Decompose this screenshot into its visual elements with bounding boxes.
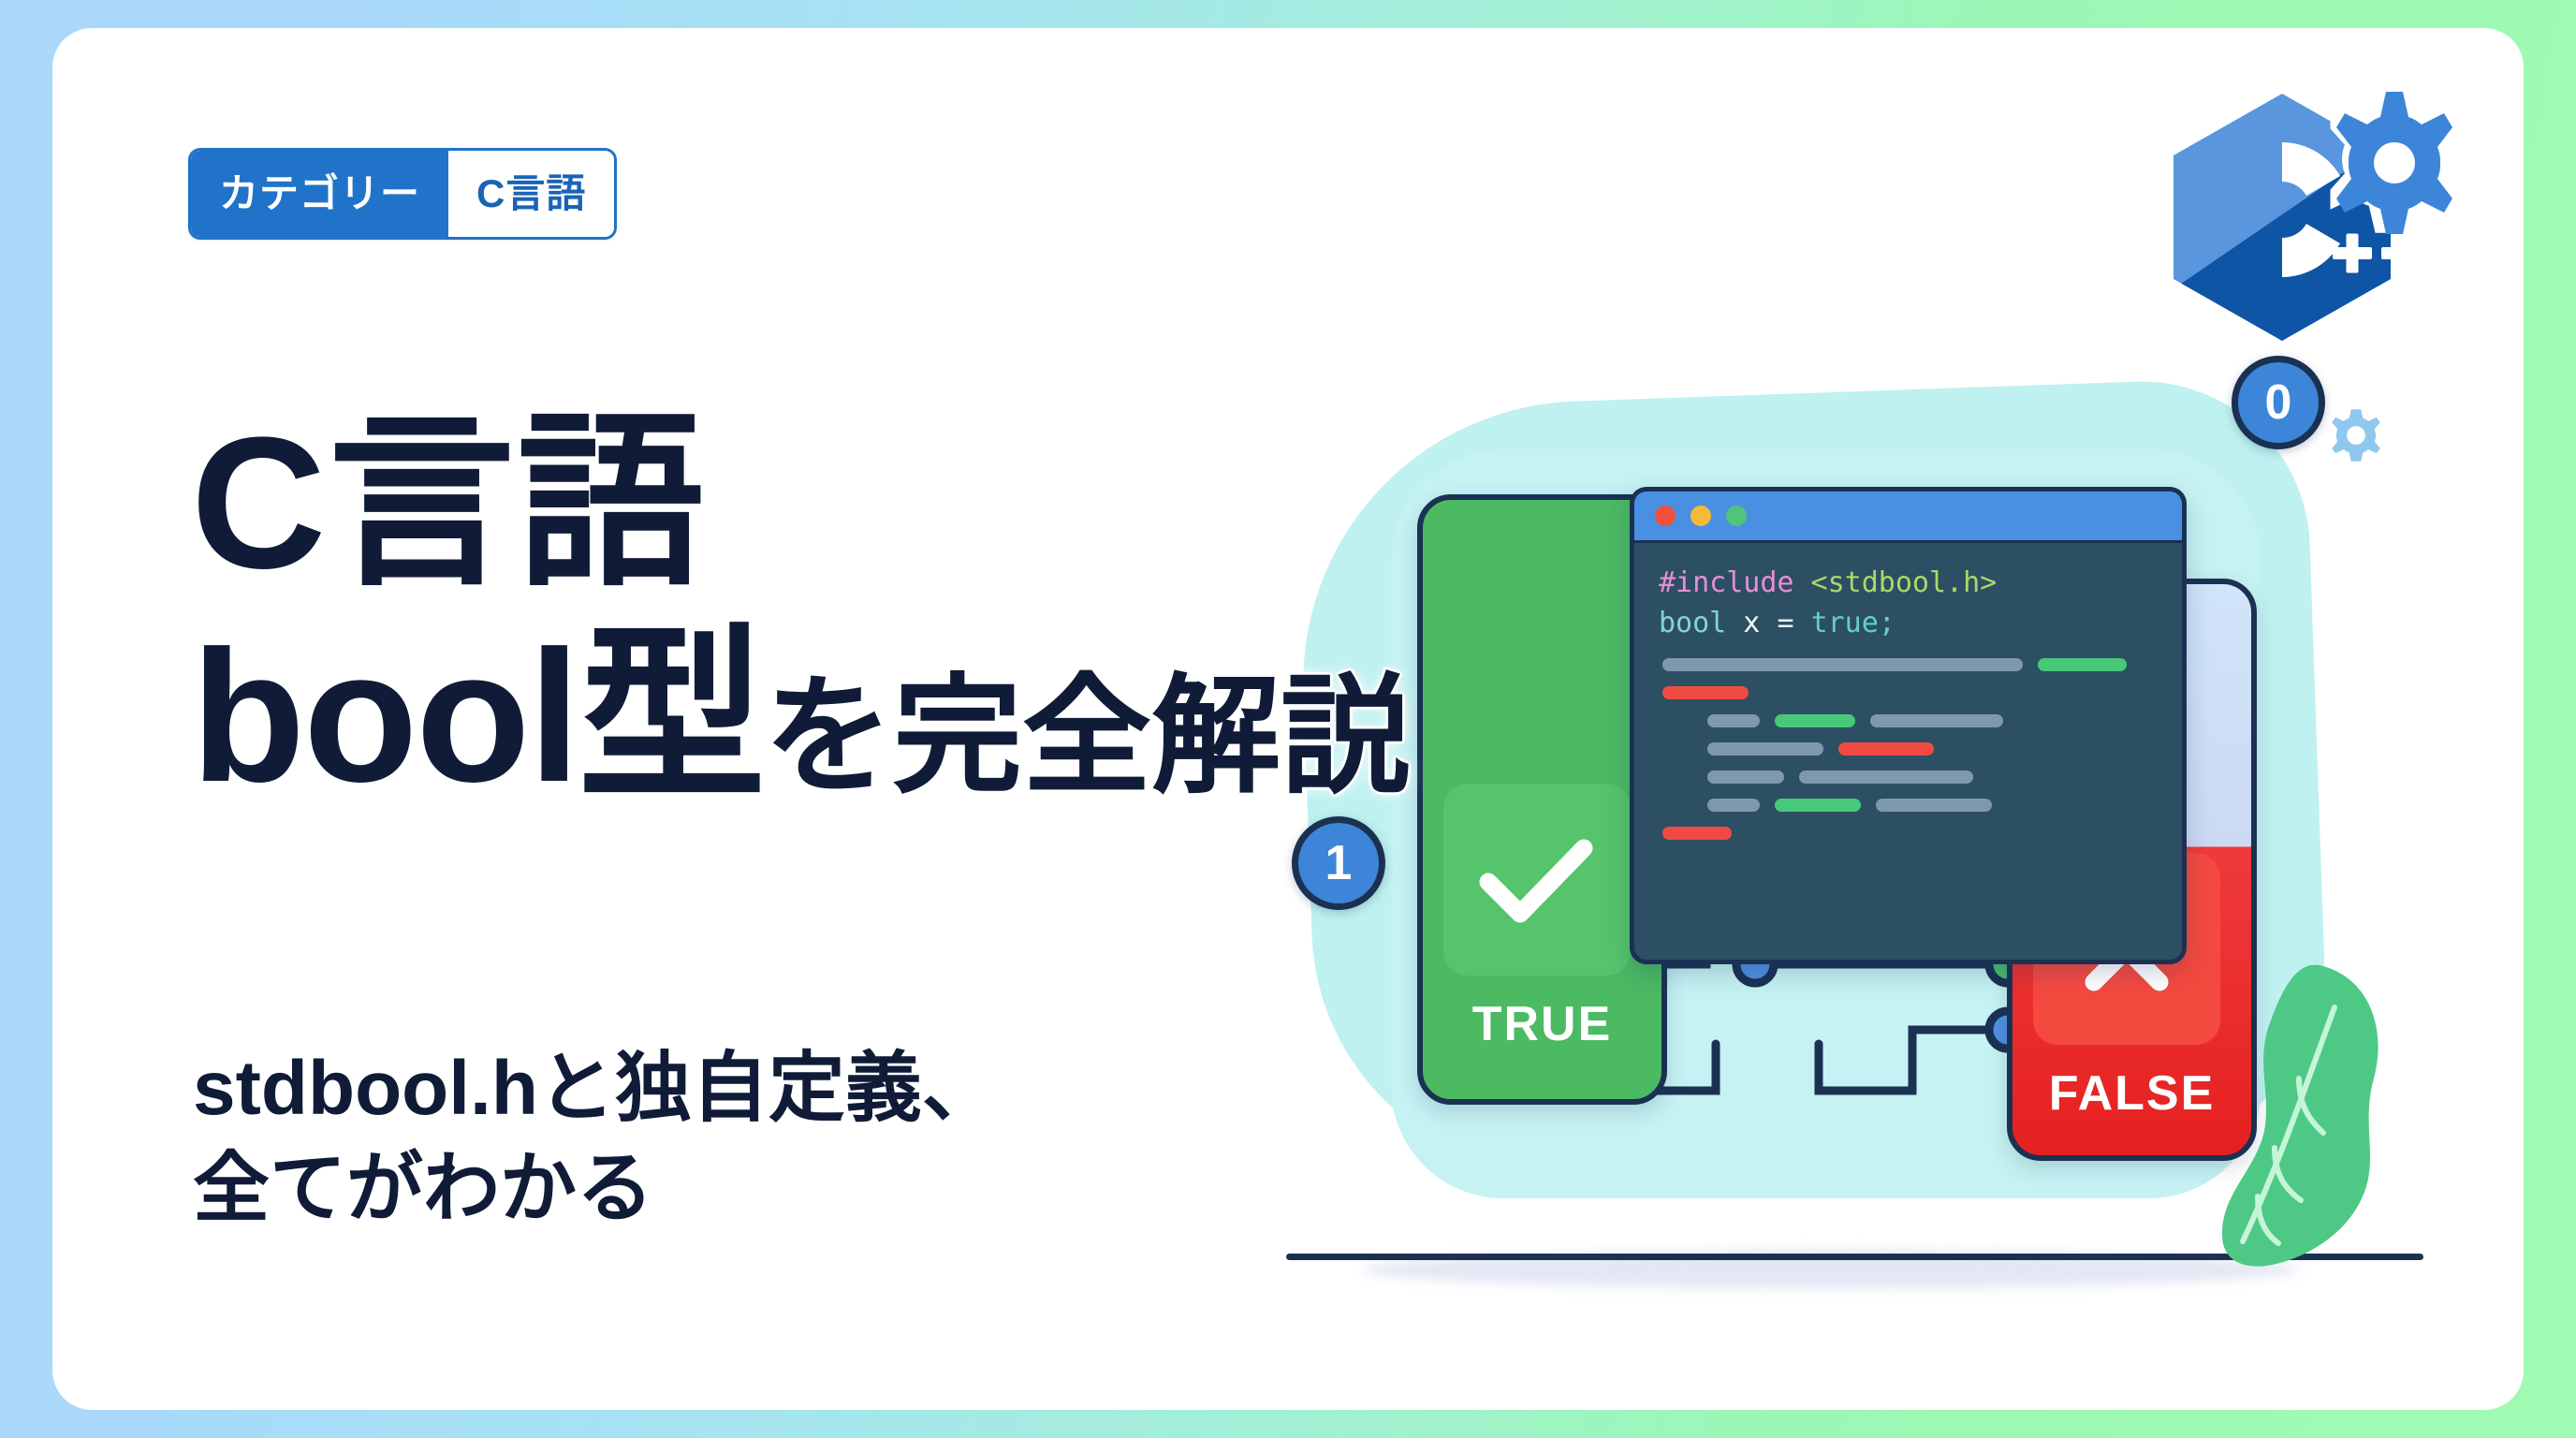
category-badge-label: カテゴリー (191, 151, 448, 237)
leaf-decoration-icon (2213, 959, 2409, 1268)
headline-line-1: C言語 (191, 410, 1838, 597)
headline-suffix: を完全解説 (764, 665, 1410, 809)
thumbnail-canvas: カテゴリー C言語 (0, 0, 2576, 1438)
gear-icon (2325, 404, 2387, 466)
placeholder-bar (1876, 799, 1992, 812)
page-subtitle: stdbool.hと独自定義、 全てがわかる (193, 1039, 999, 1239)
category-badge[interactable]: カテゴリー C言語 (188, 148, 617, 240)
placeholder-bar (2038, 658, 2127, 671)
category-badge-value: C言語 (448, 151, 614, 237)
cpp-logo-icon (2160, 73, 2452, 354)
headline-line-2: bool型を完全解説 (191, 624, 1838, 811)
badge-zero: 0 (2232, 356, 2325, 449)
page-title: C言語 bool型を完全解説 (191, 410, 1838, 811)
placeholder-row (1662, 827, 2154, 840)
subtitle-line-2: 全てがわかる (193, 1139, 999, 1240)
placeholder-bar (1870, 714, 2003, 727)
placeholder-bar (1662, 827, 1732, 840)
subtitle-line-1: stdbool.hと独自定義、 (193, 1039, 999, 1139)
headline-keyword: bool型 (191, 612, 764, 821)
content-card: カテゴリー C言語 (52, 28, 2524, 1410)
check-icon (1477, 833, 1597, 927)
placeholder-bar (1838, 742, 1934, 756)
true-card-label: TRUE (1423, 996, 1661, 1052)
true-icon-box (1443, 784, 1631, 976)
badge-one: 1 (1292, 816, 1385, 910)
